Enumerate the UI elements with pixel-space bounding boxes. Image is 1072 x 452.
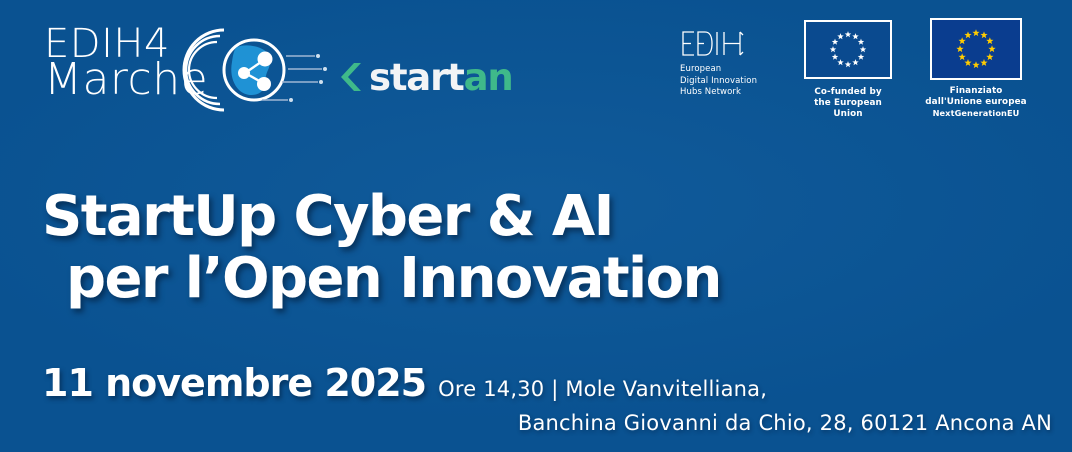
chevron-left-icon (338, 60, 364, 94)
event-time-venue: Ore 14,30 | Mole Vanvitelliana, (438, 376, 767, 402)
logo-eu-nextgeneration: Finanziato dall'Unione europea NextGener… (920, 18, 1032, 119)
eu-cofunded-line1: Co-funded by (800, 87, 896, 98)
eu-cofunded-line2: the European Union (800, 98, 896, 120)
logo-edih-network: European Digital Innovation Hubs Network (676, 30, 786, 99)
startan-word-an: an (464, 59, 513, 96)
edih-subtitle-line1: European (680, 64, 786, 76)
eu-flag-yellow-icon (930, 18, 1022, 80)
event-date: 11 novembre 2025 (42, 362, 426, 404)
event-details: 11 novembre 2025 Ore 14,30 | Mole Vanvit… (42, 362, 1052, 436)
network-globe-icon (182, 20, 332, 120)
logo-eu-cofunded: Co-funded by the European Union (800, 20, 896, 120)
startan-word-start: start (369, 59, 464, 96)
edih-network-subtitle: European Digital Innovation Hubs Network (680, 64, 786, 99)
edih4marche-wordmark: EDIH4 Marche (44, 24, 170, 64)
eu-nextgen-caption: Finanziato dall'Unione europea NextGener… (920, 86, 1032, 119)
logo-edih4marche: EDIH4 Marche (44, 24, 324, 116)
eu-cofunded-caption: Co-funded by the European Union (800, 87, 896, 120)
event-banner: EDIH4 Marche (0, 0, 1072, 452)
edih-subtitle-line2: Digital Innovation (680, 76, 786, 88)
title-line-1: StartUp Cyber & AI (42, 186, 721, 248)
eu-nextgen-line1: Finanziato (920, 86, 1032, 97)
eu-nextgen-line3: NextGenerationEU (920, 108, 1032, 119)
event-details-row-1: 11 novembre 2025 Ore 14,30 | Mole Vanvit… (42, 362, 1052, 404)
logo-startan: startan (338, 56, 513, 98)
edih-subtitle-line3: Hubs Network (680, 87, 786, 99)
edih-monogram-icon (680, 30, 746, 57)
eu-nextgen-line2: dall'Unione europea (920, 97, 1032, 108)
eu-flag-icon (804, 20, 892, 79)
title-line-2: per l’Open Innovation (66, 248, 721, 310)
event-address: Banchina Giovanni da Chio, 28, 60121 Anc… (42, 410, 1052, 436)
logo-row: EDIH4 Marche (0, 0, 1072, 130)
page-title: StartUp Cyber & AI per l’Open Innovation (42, 186, 721, 310)
